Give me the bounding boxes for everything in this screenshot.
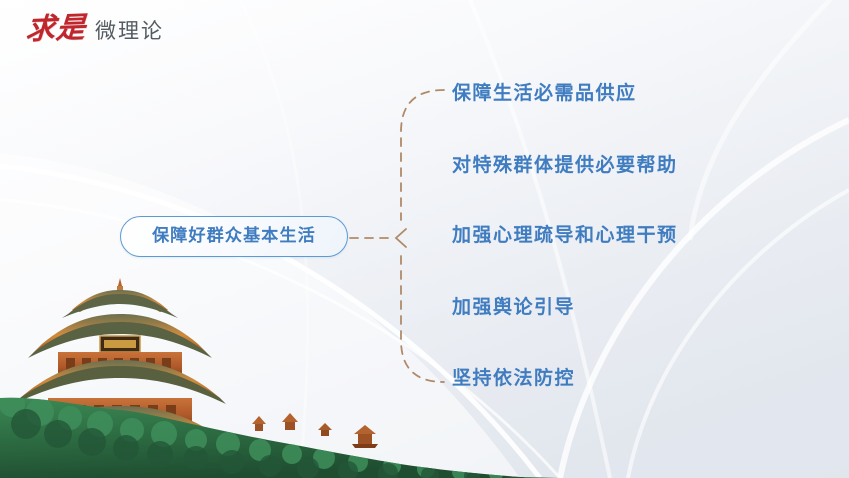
- slide-canvas: 求是 微理论 保障好群众基本生活 保障生活必需品供应 对特殊群体提供必要帮助 加…: [0, 0, 849, 478]
- logo-mark-qiushi: 求是: [25, 13, 87, 44]
- list-item[interactable]: 加强舆论引导: [452, 298, 575, 317]
- list-item[interactable]: 对特殊群体提供必要帮助: [452, 156, 678, 175]
- list-item[interactable]: 加强心理疏导和心理干预: [452, 226, 678, 245]
- logo-subtitle: 微理论: [95, 21, 164, 42]
- brand-logo: 求是 微理论: [26, 14, 164, 43]
- topic-pill-label: 保障好群众基本生活: [152, 228, 316, 245]
- topic-item-list: 保障生活必需品供应 对特殊群体提供必要帮助 加强心理疏导和心理干预 加强舆论引导…: [452, 0, 832, 478]
- list-item[interactable]: 保障生活必需品供应: [452, 84, 637, 103]
- list-item[interactable]: 坚持依法防控: [452, 369, 575, 388]
- topic-pill[interactable]: 保障好群众基本生活: [120, 216, 348, 257]
